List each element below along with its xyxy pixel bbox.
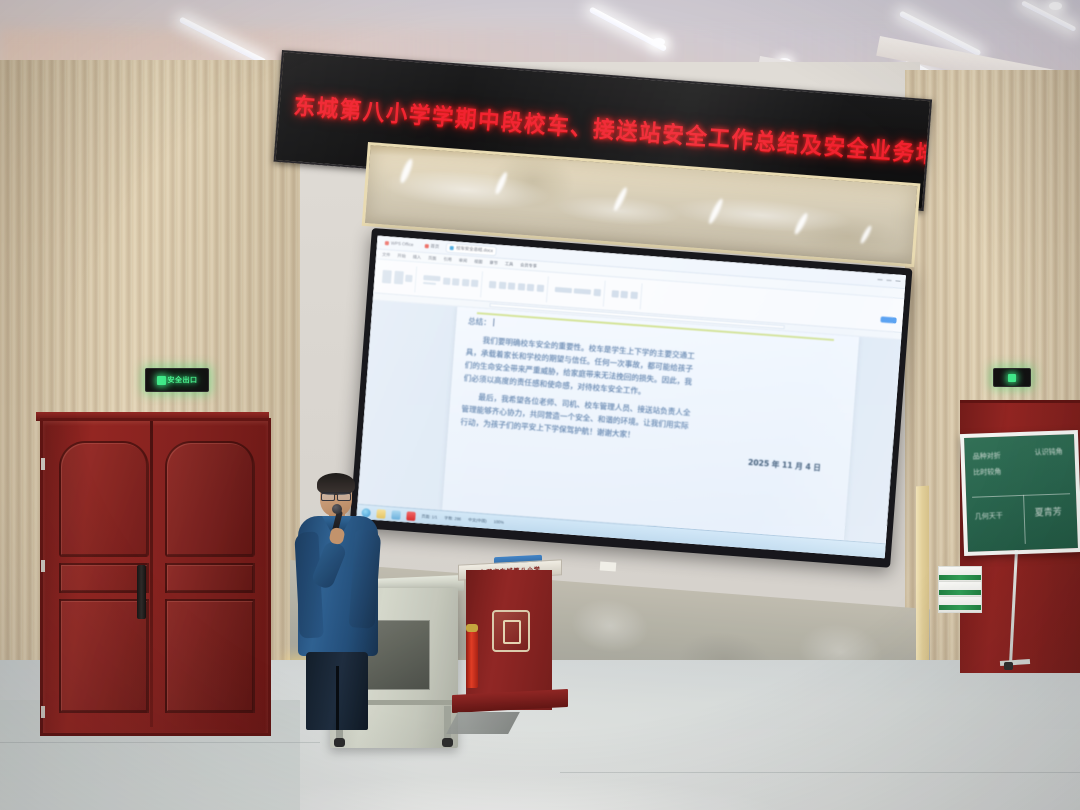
comment-icon[interactable] <box>630 292 638 300</box>
door-panel-bottom-right <box>165 599 255 713</box>
window-controls[interactable] <box>878 279 901 282</box>
ribbon-save-button[interactable] <box>880 316 896 323</box>
exit-sign-left-label: 安全出口 <box>168 375 198 385</box>
bold-icon[interactable] <box>442 277 450 285</box>
door-panel-mid-left <box>59 563 149 593</box>
chalkboard-text-1: 品种对折 <box>973 451 1001 462</box>
app-tab-wps[interactable]: WPS Office <box>382 239 417 249</box>
chalkboard-divider-horizontal <box>972 494 1070 498</box>
close-icon[interactable] <box>895 280 900 282</box>
menu-item-tools[interactable]: 工具 <box>505 261 514 268</box>
bullet-list-icon[interactable] <box>489 281 497 289</box>
ribbon-group-right-tools[interactable] <box>607 280 642 308</box>
menu-item-file[interactable]: 文件 <box>382 251 391 258</box>
speaker-glasses <box>321 492 351 499</box>
door-panel-mid-right <box>165 563 255 593</box>
door-panel-top-left <box>59 441 149 557</box>
font-size-select[interactable] <box>423 282 436 285</box>
maximize-icon[interactable] <box>886 280 891 282</box>
wps-office-window[interactable]: WPS Office 首页 校车安全总结.docx <box>356 235 906 558</box>
running-man-icon-right <box>1008 374 1016 382</box>
ribbon-group-paragraph[interactable] <box>485 271 548 302</box>
speaker-presenter <box>296 470 382 730</box>
meeting-room-photo: 东城第八小学学期中段校车、接送站安全工作总结及安全业务培训会议（2025.11.… <box>0 0 1080 810</box>
chalkboard-text-4: 几何天干 <box>975 511 1003 522</box>
speaker-leg-separation <box>336 666 339 730</box>
app-tab-wps-label: WPS Office <box>391 240 414 247</box>
chalkboard-divider-vertical <box>1023 495 1026 544</box>
ribbon-group-font[interactable] <box>419 266 483 297</box>
door-hinge-top <box>41 458 45 470</box>
paper-pack-bottom <box>938 596 982 613</box>
fire-extinguisher <box>466 630 478 688</box>
document-page[interactable]: 总结： 我们要明确校车安全的重要性。校车是学生上下学的主要交通工 具，承载着家长… <box>442 307 859 541</box>
document-canvas[interactable]: 总结： 我们要明确校车安全的重要性。校车是学生上下学的主要交通工 具，承载着家长… <box>357 300 901 543</box>
chalkboard[interactable]: 品种对折 认识钝角 比时较角 几何天干 夏青芳 <box>960 430 1080 556</box>
align-right-icon[interactable] <box>527 284 535 292</box>
text-caret <box>493 318 494 326</box>
chalkboard-text-3: 比时较角 <box>973 467 1001 478</box>
app-tab-document[interactable]: 校车安全总结.docx <box>447 243 496 255</box>
cloud-icon[interactable] <box>611 290 619 298</box>
floor-seam-1 <box>0 742 320 743</box>
chalkboard-caster <box>1004 662 1013 670</box>
fire-extinguisher-nozzle-icon <box>466 624 478 632</box>
gold-pillar-trim <box>916 486 929 677</box>
menu-item-section[interactable]: 章节 <box>489 259 498 266</box>
door-panel-top-right <box>165 441 255 557</box>
door-handle[interactable] <box>137 565 146 619</box>
italic-icon[interactable] <box>452 278 460 286</box>
app-tab-home[interactable]: 首页 <box>421 241 442 251</box>
ceiling-downlight-1 <box>652 38 665 46</box>
floor-seam-2 <box>560 772 1080 773</box>
font-controls[interactable] <box>423 275 441 285</box>
door-panel-bottom-left <box>59 599 149 713</box>
ceiling-downlight-4 <box>1049 2 1062 10</box>
underline-icon[interactable] <box>461 279 469 287</box>
find-replace-icon[interactable] <box>593 289 601 297</box>
status-words: 字数: 286 <box>444 515 461 522</box>
projection-screen-bezel: WPS Office 首页 校车安全总结.docx <box>350 228 913 568</box>
menu-item-reference[interactable]: 引用 <box>443 256 452 263</box>
chalkboard-text-2: 认识钝角 <box>1034 447 1062 458</box>
document-heading-text: 总结： <box>468 316 491 327</box>
align-center-icon[interactable] <box>517 283 525 291</box>
podium-emblem-icon <box>492 610 530 652</box>
floor-mat <box>446 712 520 734</box>
lectern-leg-right <box>444 706 451 740</box>
minimize-icon[interactable] <box>878 279 883 281</box>
lectern-caster-left <box>334 738 345 747</box>
menu-item-view[interactable]: 视图 <box>474 258 483 265</box>
wps-logo-icon <box>385 241 389 245</box>
menu-item-insert[interactable]: 插入 <box>413 254 422 261</box>
share-icon[interactable] <box>620 291 628 299</box>
projection-screen[interactable]: WPS Office 首页 校车安全总结.docx <box>356 235 906 558</box>
menu-item-page[interactable]: 页面 <box>428 255 437 262</box>
paper-pack-label-middle <box>939 590 981 595</box>
line-spacing-icon[interactable] <box>536 285 544 293</box>
paper-pack-label-top <box>939 575 981 580</box>
format-painter-icon[interactable] <box>405 275 413 283</box>
chalkboard-text-5: 夏青芳 <box>1034 505 1061 519</box>
exit-sign-left: 安全出口 <box>145 368 209 392</box>
paste-icon[interactable] <box>382 270 392 284</box>
document-icon <box>450 245 454 249</box>
ribbon-group-styles[interactable] <box>550 276 605 306</box>
exit-sign-right <box>993 368 1031 387</box>
align-left-icon[interactable] <box>508 282 516 290</box>
status-zoom: 100% <box>493 519 504 526</box>
browser-icon[interactable] <box>391 510 401 520</box>
app-tab-document-label: 校车安全总结.docx <box>456 245 493 254</box>
menu-item-member[interactable]: 会员专享 <box>520 262 537 269</box>
door-hinge-middle <box>41 560 45 572</box>
stage-wall-tag <box>600 561 617 571</box>
status-page: 页面: 1/1 <box>421 514 437 521</box>
ribbon-group-clipboard[interactable] <box>378 263 417 292</box>
running-man-icon <box>157 376 166 385</box>
font-family-select[interactable] <box>423 275 440 281</box>
font-color-icon[interactable] <box>471 280 479 288</box>
lectern-caster-right <box>442 738 453 747</box>
paper-pack-label-bottom <box>939 605 981 610</box>
copy-icon[interactable] <box>393 271 403 285</box>
app-tab-home-label: 首页 <box>430 243 439 250</box>
home-icon <box>424 243 428 247</box>
wps-taskbar-icon[interactable] <box>406 511 416 521</box>
menu-item-home[interactable]: 开始 <box>397 252 406 259</box>
microphone-icon <box>332 504 342 514</box>
paper-towel-stack <box>938 566 980 612</box>
style-normal-icon[interactable] <box>554 287 571 293</box>
status-locale: 中文(中国) <box>468 517 487 524</box>
door-left-double[interactable] <box>40 418 271 736</box>
door-hinge-bottom <box>41 706 45 718</box>
style-heading-icon[interactable] <box>574 288 591 294</box>
numbered-list-icon[interactable] <box>498 282 506 290</box>
door-center-stile <box>150 421 153 727</box>
chalkboard-surface[interactable]: 品种对折 认识钝角 比时较角 几何天干 夏青芳 <box>960 430 1080 556</box>
menu-item-review[interactable]: 审阅 <box>459 257 468 264</box>
